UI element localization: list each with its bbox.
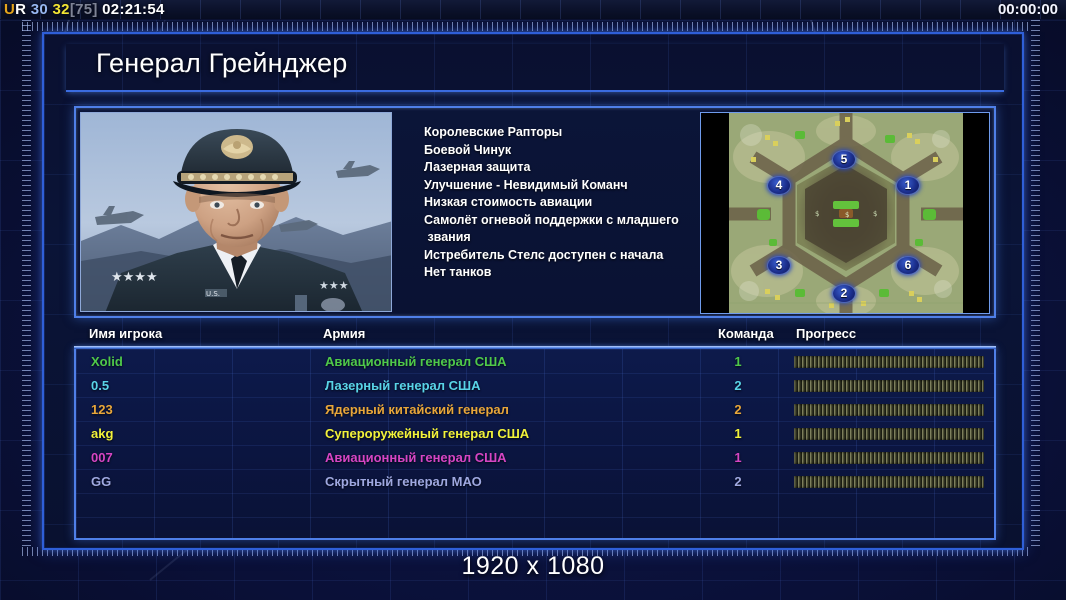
- player-table-header: Имя игрока Армия Команда Прогресс: [74, 326, 996, 348]
- table-row[interactable]: akg Супероружейный генерал США 1: [76, 423, 994, 447]
- column-header-progress: Прогресс: [796, 326, 856, 341]
- ability-line: Лазерная защита: [424, 159, 744, 177]
- player-army: Скрытный генерал МАО: [325, 474, 482, 489]
- player-army: Лазерный генерал США: [325, 378, 480, 393]
- ability-line: Самолёт огневой поддержки с младшего: [424, 212, 744, 230]
- status-bar-left-readout: UR 30 32[75] 02:21:54: [4, 0, 165, 20]
- player-army: Авиационный генерал США: [325, 450, 507, 465]
- ruler-left: [22, 20, 31, 548]
- status-bar-right-timer: 00:00:00: [998, 0, 1058, 20]
- player-team: 2: [724, 474, 752, 489]
- player-name: Xolid: [91, 354, 123, 369]
- player-name: GG: [91, 474, 111, 489]
- start-position-label: 5: [841, 152, 848, 166]
- ur-prefix-r: R: [15, 1, 26, 18]
- svg-text:★★★: ★★★: [319, 279, 349, 292]
- start-position-label: 2: [841, 286, 848, 300]
- player-progress-bar: [794, 356, 984, 368]
- status-num-2: 32: [53, 1, 70, 18]
- player-team: 2: [724, 378, 752, 393]
- player-progress-bar: [794, 404, 984, 416]
- column-header-team: Команда: [718, 326, 774, 341]
- general-abilities-list: Королевские Рапторы Боевой Чинук Лазерна…: [424, 124, 744, 282]
- minimap-start-position[interactable]: 4: [768, 177, 790, 194]
- ruler-right: [1031, 20, 1040, 548]
- column-header-player-name: Имя игрока: [89, 326, 162, 341]
- player-progress-bar: [794, 452, 984, 464]
- svg-text:$: $: [815, 210, 819, 218]
- player-team: 1: [724, 450, 752, 465]
- player-army: Ядерный китайский генерал: [325, 402, 509, 417]
- status-num-1: 30: [31, 1, 48, 18]
- svg-text:★★★★: ★★★★: [111, 270, 158, 285]
- svg-text:$: $: [873, 210, 877, 218]
- ability-line: Нет танков: [424, 264, 744, 282]
- table-row[interactable]: 0.5 Лазерный генерал США 2: [76, 375, 994, 399]
- page-title: Генерал Грейнджер: [96, 48, 347, 79]
- minimap-start-position[interactable]: 1: [897, 177, 919, 194]
- player-team: 2: [724, 402, 752, 417]
- player-progress-bar: [794, 476, 984, 488]
- start-position-label: 6: [905, 258, 912, 272]
- status-timer: 02:21:54: [102, 1, 164, 18]
- ability-line: Улучшение - Невидимый Команч: [424, 177, 744, 195]
- general-info-window: Генерал Грейнджер: [42, 32, 1024, 550]
- player-team: 1: [724, 426, 752, 441]
- player-name: 0.5: [91, 378, 109, 393]
- ur-prefix-u: U: [4, 1, 15, 18]
- match-minimap[interactable]: $ $ $: [729, 113, 963, 314]
- player-name: akg: [91, 426, 113, 441]
- general-details-panel: ★★★★ ★★★ U.S. Королевские Рапторы Боевой…: [74, 106, 996, 318]
- player-team: 1: [724, 354, 752, 369]
- table-row[interactable]: 007 Авиационный генерал США 1: [76, 447, 994, 471]
- table-row[interactable]: Xolid Авиационный генерал США 1: [76, 351, 994, 375]
- player-army: Авиационный генерал США: [325, 354, 507, 369]
- svg-text:U.S.: U.S.: [206, 290, 220, 298]
- player-table-body: Xolid Авиационный генерал США 1 0.5 Лазе…: [74, 349, 996, 540]
- minimap-start-position[interactable]: 6: [897, 257, 919, 274]
- player-progress-bar: [794, 428, 984, 440]
- player-progress-bar: [794, 380, 984, 392]
- player-name: 007: [91, 450, 113, 465]
- ability-line: Королевские Рапторы: [424, 124, 744, 142]
- player-army: Супероружейный генерал США: [325, 426, 529, 441]
- title-band: Генерал Грейнджер: [66, 44, 1004, 92]
- table-row[interactable]: 123 Ядерный китайский генерал 2: [76, 399, 994, 423]
- game-screen: UR 30 32[75] 02:21:54 00:00:00 Генерал Г…: [0, 0, 1066, 600]
- start-position-label: 3: [776, 258, 783, 272]
- minimap-start-position[interactable]: 2: [833, 285, 855, 302]
- player-name: 123: [91, 402, 113, 417]
- start-position-label: 1: [905, 178, 912, 192]
- start-position-label: 4: [776, 178, 783, 192]
- minimap-terrain: $ $ $: [729, 113, 963, 314]
- status-bracket-value: [75]: [70, 1, 98, 18]
- status-bar: UR 30 32[75] 02:21:54 00:00:00: [0, 0, 1066, 20]
- general-granger-portrait: ★★★★ ★★★ U.S.: [80, 112, 392, 312]
- minimap-start-position[interactable]: 3: [768, 257, 790, 274]
- ability-line: Боевой Чинук: [424, 142, 744, 160]
- minimap-start-position[interactable]: 5: [833, 151, 855, 168]
- resolution-overlay: 1920 x 1080: [0, 552, 1066, 581]
- ability-line: звания: [424, 229, 744, 247]
- table-row[interactable]: GG Скрытный генерал МАО 2: [76, 471, 994, 495]
- ability-line: Истребитель Стелс доступен с начала: [424, 247, 744, 265]
- ruler-top: [22, 22, 1032, 31]
- minimap-frame: $ $ $: [700, 112, 990, 314]
- column-header-army: Армия: [323, 326, 365, 341]
- ability-line: Низкая стоимость авиации: [424, 194, 744, 212]
- svg-text:$: $: [845, 211, 849, 219]
